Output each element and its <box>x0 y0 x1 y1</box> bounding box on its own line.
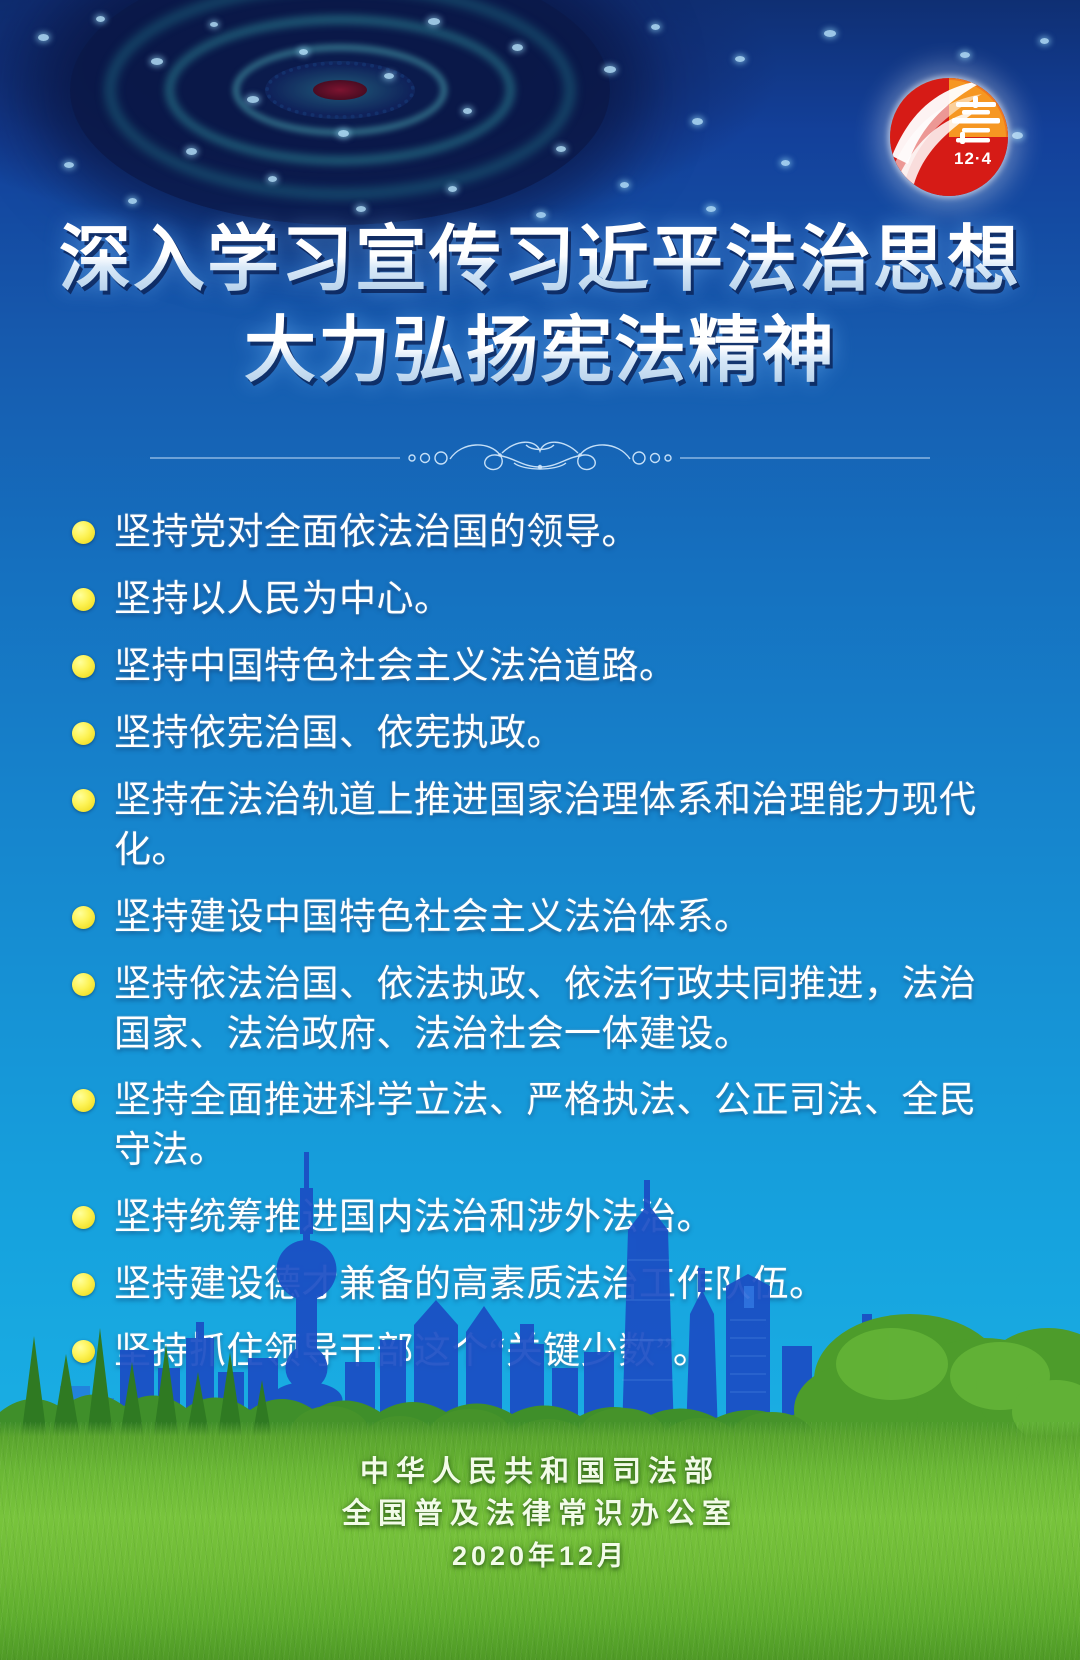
bullet-dot-icon <box>72 655 95 678</box>
bullet-dot-icon <box>72 973 95 996</box>
principle-text: 坚持以人民为中心。 <box>114 575 1012 625</box>
footer-issuer-block: 中华人民共和国司法部 全国普及法律常识办公室 2020年12月 <box>0 1451 1080 1576</box>
bullet-dot-icon <box>72 1089 95 1112</box>
poster-title-block: 深入学习宣传习近平法治思想 大力弘扬宪法精神 <box>0 218 1080 394</box>
principle-text: 坚持建设中国特色社会主义法治体系。 <box>114 893 1012 943</box>
principle-text: 坚持依宪治国、依宪执政。 <box>114 709 1012 759</box>
list-item: 坚持抓住领导干部这个“关键少数”。 <box>72 1327 1012 1377</box>
bullet-dot-icon <box>72 1206 95 1229</box>
dome-ring-inner <box>265 61 415 119</box>
footer-date: 2020年12月 <box>0 1536 1080 1577</box>
bullet-dot-icon <box>72 906 95 929</box>
bullet-dot-icon <box>72 588 95 611</box>
bullet-dot-icon <box>72 789 95 812</box>
list-item: 坚持依宪治国、依宪执政。 <box>72 709 1012 759</box>
principle-text: 坚持依法治国、依法执政、依法行政共同推进，法治国家、法治政府、法治社会一体建设。 <box>114 960 1012 1060</box>
great-hall-dome-ceiling <box>60 0 620 240</box>
list-item: 坚持建设德才兼备的高素质法治工作队伍。 <box>72 1260 1012 1310</box>
title-line-2: 大力弘扬宪法精神 <box>0 309 1080 394</box>
svg-text:12·4: 12·4 <box>954 149 992 168</box>
bullet-dot-icon <box>72 521 95 544</box>
dome-ring-outer <box>70 0 610 225</box>
ornamental-flourish-divider <box>0 432 1080 478</box>
principle-text: 坚持党对全面依法治国的领导。 <box>114 508 1012 558</box>
dome-ring-3 <box>165 15 515 165</box>
bullet-dot-icon <box>72 1273 95 1296</box>
dome-center-star <box>313 80 367 100</box>
principles-list: 坚持党对全面依法治国的领导。 坚持以人民为中心。 坚持中国特色社会主义法治道路。… <box>72 508 1012 1394</box>
dome-ring-2 <box>105 0 575 199</box>
constitution-day-emblem: 12·4 <box>890 78 1008 196</box>
principle-text: 坚持在法治轨道上推进国家治理体系和治理能力现代化。 <box>114 776 1012 876</box>
dome-ring-4 <box>233 44 448 136</box>
list-item: 坚持建设中国特色社会主义法治体系。 <box>72 893 1012 943</box>
list-item: 坚持以人民为中心。 <box>72 575 1012 625</box>
title-line-1: 深入学习宣传习近平法治思想 <box>0 218 1080 303</box>
bullet-dot-icon <box>72 722 95 745</box>
list-item: 坚持党对全面依法治国的领导。 <box>72 508 1012 558</box>
principle-text: 坚持全面推进科学立法、严格执法、公正司法、全民守法。 <box>114 1076 1012 1176</box>
principle-text: 坚持统筹推进国内法治和涉外法治。 <box>114 1193 1012 1243</box>
principle-text: 坚持建设德才兼备的高素质法治工作队伍。 <box>114 1260 1012 1310</box>
list-item: 坚持全面推进科学立法、严格执法、公正司法、全民守法。 <box>72 1076 1012 1176</box>
list-item: 坚持在法治轨道上推进国家治理体系和治理能力现代化。 <box>72 776 1012 876</box>
bullet-dot-icon <box>72 1340 95 1363</box>
constitution-day-poster: 12·4 深入学习宣传习近平法治思想 大力弘扬宪法精神 <box>0 0 1080 1660</box>
principle-text: 坚持中国特色社会主义法治道路。 <box>114 642 1012 692</box>
footer-office: 全国普及法律常识办公室 <box>0 1493 1080 1535</box>
principle-text: 坚持抓住领导干部这个“关键少数”。 <box>114 1327 1012 1377</box>
list-item: 坚持统筹推进国内法治和涉外法治。 <box>72 1193 1012 1243</box>
footer-ministry: 中华人民共和国司法部 <box>0 1451 1080 1493</box>
list-item: 坚持中国特色社会主义法治道路。 <box>72 642 1012 692</box>
list-item: 坚持依法治国、依法执政、依法行政共同推进，法治国家、法治政府、法治社会一体建设。 <box>72 960 1012 1060</box>
